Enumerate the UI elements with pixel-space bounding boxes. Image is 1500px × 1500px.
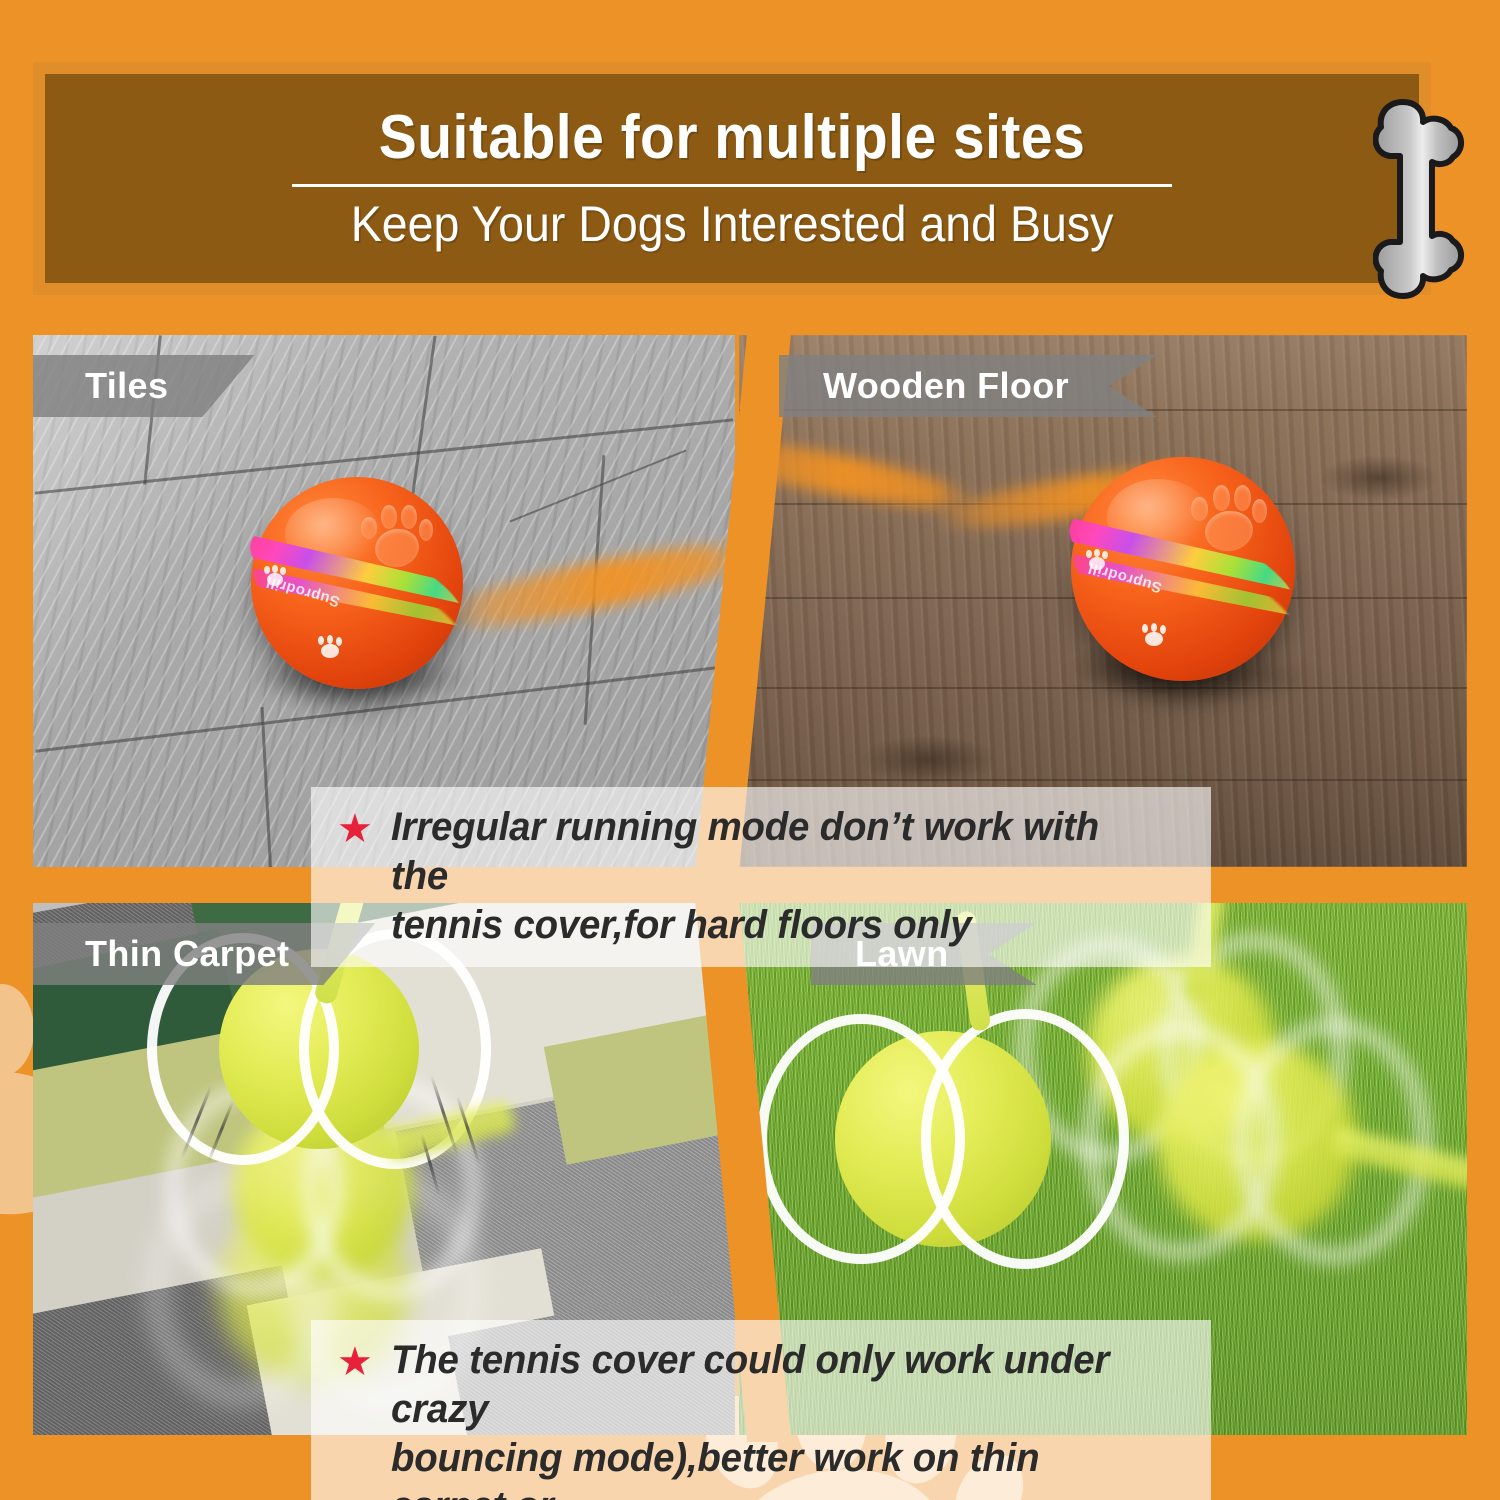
- caption-tennis-cover-text: The tennis cover could only work under c…: [391, 1336, 1153, 1500]
- orange-smart-ball-wood: Suprodrill: [1071, 457, 1295, 681]
- orange-smart-ball-tiles: Suprodrill: [251, 477, 463, 689]
- caption-tennis-cover-note: ★ The tennis cover could only work under…: [311, 1320, 1211, 1500]
- tennis-ball-ghost-right: [1157, 1041, 1357, 1241]
- header-banner: Suitable for multiple sites Keep Your Do…: [33, 62, 1431, 295]
- star-bullet-icon: ★: [337, 809, 373, 849]
- header-divider-rule: [292, 184, 1172, 187]
- ball-paw-emboss: [359, 503, 431, 571]
- star-bullet-icon: ★: [337, 1342, 373, 1382]
- banner-wooden-floor: Wooden Floor: [779, 355, 1157, 417]
- ball-paw-small-bottom: [317, 635, 343, 659]
- header-inner-panel: Suitable for multiple sites Keep Your Do…: [45, 74, 1419, 283]
- page-title: Suitable for multiple sites: [379, 105, 1086, 170]
- dog-bone-icon: [1373, 94, 1469, 304]
- page-subtitle: Keep Your Dogs Interested and Busy: [351, 197, 1114, 252]
- tennis-seam-right: [921, 1009, 1128, 1268]
- caption-hard-floor-note: ★ Irregular running mode don’t work with…: [311, 787, 1211, 967]
- ball-paw-small-bottom: [1141, 623, 1167, 647]
- tennis-ball-cover-lawn: [835, 1031, 1051, 1247]
- panel-label-tiles: Tiles: [85, 365, 168, 407]
- ball-paw-emboss: [1189, 483, 1265, 555]
- ball-brand-text: Suprodrill: [1086, 559, 1164, 596]
- caption-hard-floor-text: Irregular running mode don’t work with t…: [391, 803, 1153, 949]
- ball-brand-text: Suprodrill: [264, 573, 342, 610]
- panel-label-thin-carpet: Thin Carpet: [85, 933, 289, 975]
- product-infographic-poster: Suitable for multiple sites Keep Your Do…: [0, 0, 1500, 1500]
- surface-panels-grid: Tiles: [33, 335, 1467, 1435]
- panel-label-wooden-floor: Wooden Floor: [823, 365, 1069, 407]
